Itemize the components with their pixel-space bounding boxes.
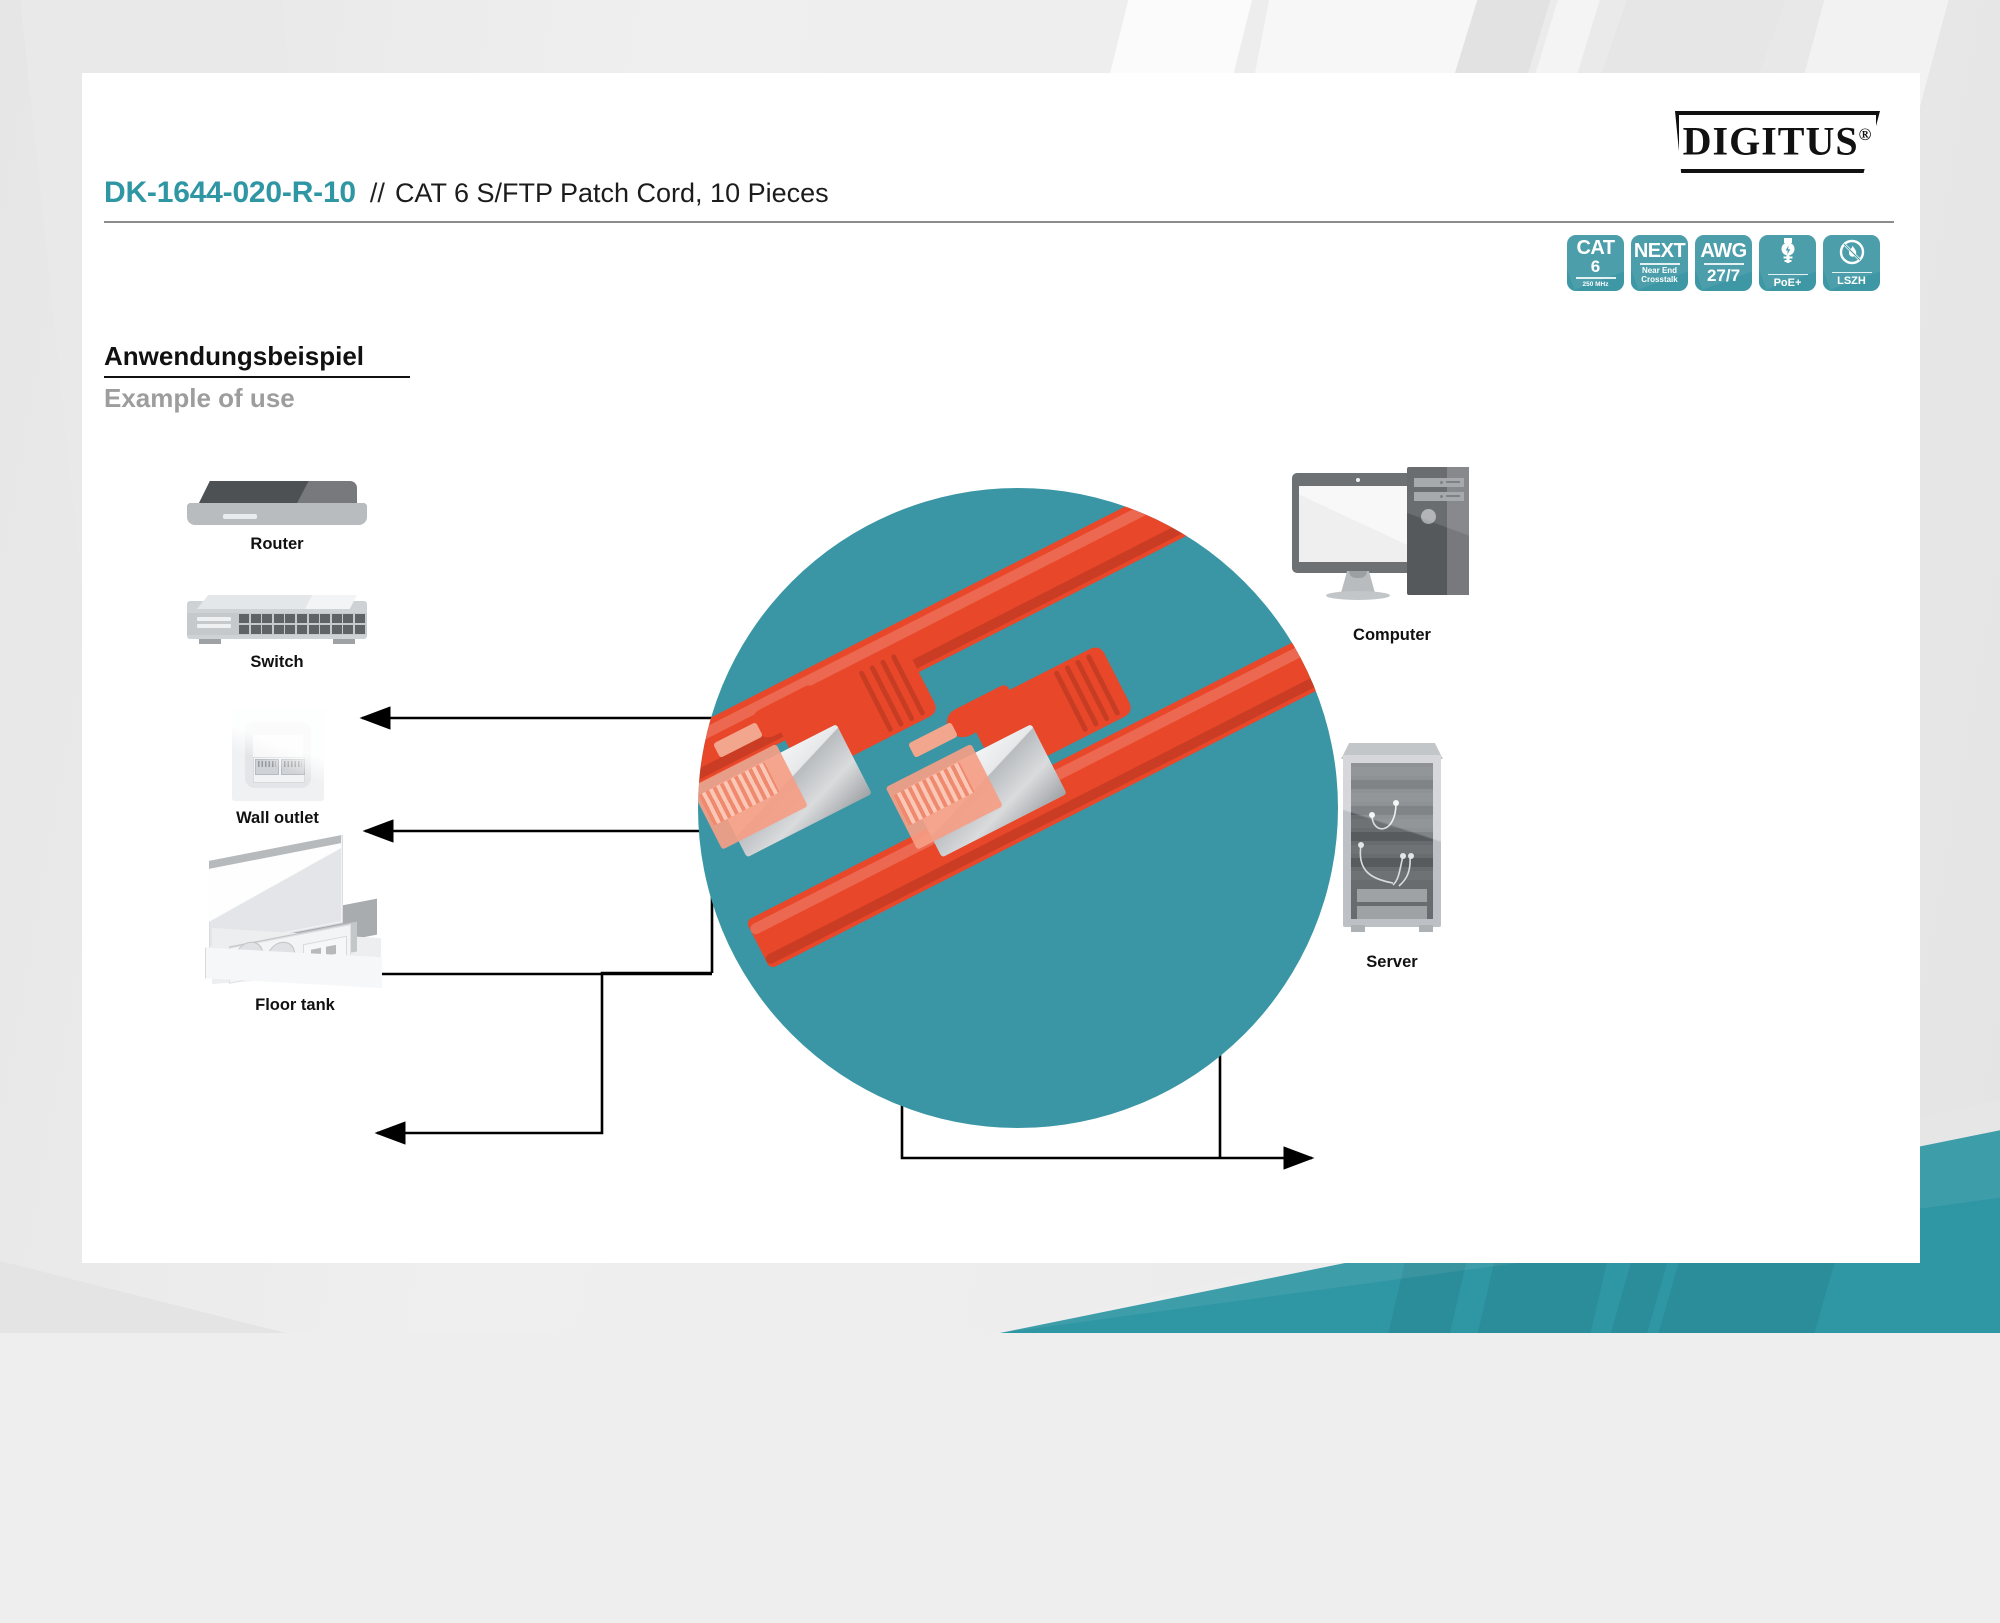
node-server-label: Server [1302,953,1482,972]
badge-next: NEXT Near End Crosstalk [1631,235,1688,291]
node-switch: Switch [177,595,377,672]
section-heading-underline [104,376,410,378]
logo-wordmark: DIGITUS [1683,119,1859,164]
badge-cat6: CAT 6 250 MHz [1567,235,1624,291]
rj45-power-icon [1778,237,1798,272]
badge-lszh-label: LSZH [1837,275,1866,287]
badge-poe-label: PoE+ [1774,277,1802,289]
badge-cat6-value: 6 [1591,258,1600,276]
product-hero-image [698,488,1338,1128]
no-flame-icon [1839,239,1865,270]
usage-diagram: Router Switch Wal [82,433,1920,1233]
badge-cat6-sub: 250 MHz [1582,281,1608,288]
floor-tank-icon [195,848,395,988]
wall-outlet-icon [232,709,324,801]
badge-awg: AWG 27/7 [1695,235,1752,291]
server-icon [1341,743,1443,939]
computer-icon [1292,473,1492,608]
switch-icon [187,595,367,645]
node-floor-tank: Floor tank [180,848,410,1015]
badge-cat6-title: CAT [1576,238,1614,258]
badge-next-sub: Near End Crosstalk [1641,267,1677,285]
badge-lszh: LSZH [1823,235,1880,291]
article-number: DK-1644-020-R-10 [104,176,356,210]
registered-trademark-icon: ® [1859,125,1873,144]
node-server: Server [1302,743,1482,972]
node-router: Router [177,481,377,554]
product-name: CAT 6 S/FTP Patch Cord, 10 Pieces [395,178,829,209]
node-wall-outlet: Wall outlet [205,709,350,828]
node-computer: Computer [1277,473,1507,645]
node-computer-label: Computer [1277,626,1507,645]
badge-awg-title: AWG [1700,241,1746,261]
digitus-logo: DIGITUS® [1675,111,1880,173]
feature-badges: CAT 6 250 MHz NEXT Near End Crosstalk AW… [1567,235,1880,291]
node-wall-outlet-label: Wall outlet [205,809,350,828]
title-divider [104,221,1894,223]
section-heading-de: Anwendungsbeispiel [104,341,364,372]
content-card: DIGITUS® DK-1644-020-R-10//CAT 6 S/FTP P… [82,73,1920,1263]
rj45-plug-right [883,668,1183,858]
section-heading-en: Example of use [104,383,295,414]
node-switch-label: Switch [177,653,377,672]
title-separator: // [370,178,385,209]
badge-awg-value: 27/7 [1707,267,1740,285]
product-title-row: DK-1644-020-R-10//CAT 6 S/FTP Patch Cord… [104,176,1894,210]
node-floor-tank-label: Floor tank [180,996,410,1015]
badge-next-title: NEXT [1634,241,1685,261]
router-icon [187,481,367,527]
node-router-label: Router [177,535,377,554]
badge-poe: PoE+ [1759,235,1816,291]
